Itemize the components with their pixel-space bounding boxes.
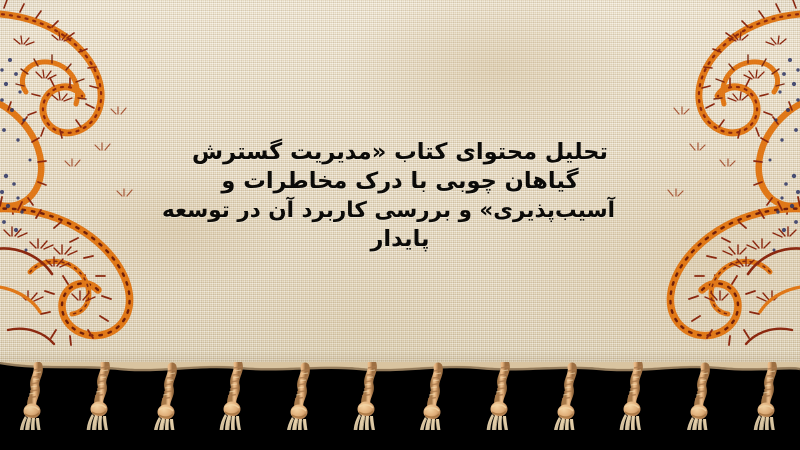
title-line-3: آسیب‌پذیری» و بررسی کاربرد آن در توسعه: [185, 196, 615, 225]
title-line-1: تحلیل محتوای کتاب «مدیریت گسترش: [185, 138, 615, 167]
title-slide: تحلیل محتوای کتاب «مدیریت گسترش گیاهان چ…: [0, 0, 800, 450]
page-title: تحلیل محتوای کتاب «مدیریت گسترش گیاهان چ…: [185, 138, 615, 254]
title-line-2: گیاهان چوبی با درک مخاطرات و: [185, 167, 615, 196]
bottom-backdrop: [0, 430, 800, 450]
title-line-4: پایدار: [185, 225, 615, 254]
